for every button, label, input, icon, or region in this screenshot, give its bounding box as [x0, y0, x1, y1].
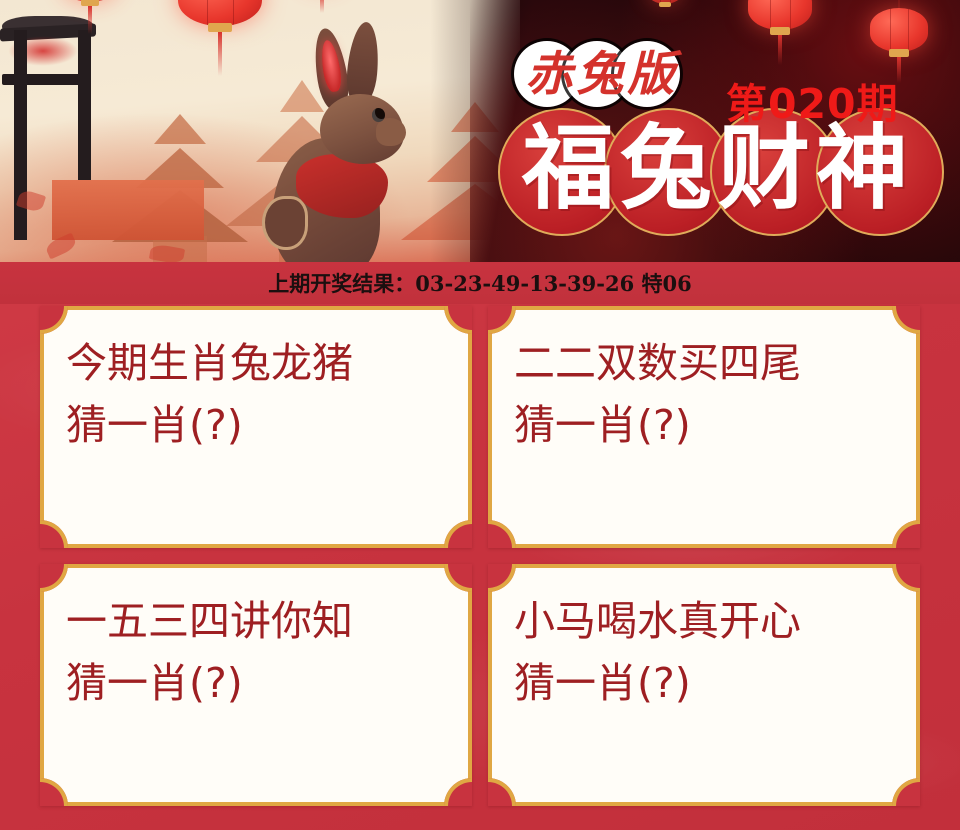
corner-notch-top-right	[892, 564, 920, 592]
previous-draw-result-bar: 上期开奖结果：03-23-49-13-39-26 特06	[0, 262, 960, 304]
riddle-line-2: 猜一肖(?)	[66, 394, 450, 456]
corner-notch-top-left	[488, 564, 516, 592]
lantern-cap	[770, 27, 790, 35]
corner-notch-bottom-right	[444, 778, 472, 806]
main-title: 福兔财神	[498, 98, 938, 238]
title-logo: 赤兔版 第020期 福兔财神	[498, 38, 950, 253]
rabbit-eye	[372, 108, 385, 122]
lantern-string	[898, 0, 900, 8]
poster-page: 赤兔版 第020期 福兔财神 上期开奖结果：03-23-49-13-39-26 …	[0, 0, 960, 830]
rabbit-ear-right	[344, 21, 381, 105]
riddle-card[interactable]: 二二双数买四尾 猜一肖(?)	[488, 306, 920, 548]
lantern-cap	[659, 2, 671, 7]
corner-notch-bottom-left	[488, 778, 516, 806]
pagoda-tier	[154, 114, 206, 144]
corner-notch-top-left	[488, 306, 516, 334]
torii-post-right	[78, 30, 91, 180]
lantern-cap	[208, 23, 232, 32]
riddle-line-1: 一五三四讲你知	[66, 590, 450, 652]
corner-notch-bottom-left	[488, 520, 516, 548]
riddle-card[interactable]: 一五三四讲你知 猜一肖(?)	[40, 564, 472, 806]
corner-notch-bottom-right	[444, 520, 472, 548]
lantern-icon	[648, 0, 682, 4]
corner-notch-top-right	[444, 564, 472, 592]
corner-notch-bottom-right	[892, 778, 920, 806]
lantern-tassel	[88, 6, 92, 34]
rabbit-muzzle	[376, 118, 406, 146]
corner-notch-bottom-right	[892, 520, 920, 548]
riddle-line-1: 今期生肖兔龙猪	[66, 332, 450, 394]
riddle-line-2: 猜一肖(?)	[66, 652, 450, 714]
riddle-card[interactable]: 今期生肖兔龙猪 猜一肖(?)	[40, 306, 472, 548]
banner-plaque	[52, 180, 204, 240]
corner-notch-top-left	[40, 306, 68, 334]
lantern-icon	[748, 0, 812, 30]
rabbit-illustration	[250, 20, 420, 262]
riddle-line-2: 猜一肖(?)	[514, 394, 898, 456]
riddle-line-2: 猜一肖(?)	[514, 652, 898, 714]
riddle-line-1: 小马喝水真开心	[514, 590, 898, 652]
lantern-body	[748, 0, 812, 30]
corner-notch-top-left	[40, 564, 68, 592]
lantern-tassel	[320, 0, 324, 13]
corner-notch-bottom-left	[40, 520, 68, 548]
previous-draw-result-text: 上期开奖结果：03-23-49-13-39-26 特06	[268, 268, 691, 298]
corner-notch-top-right	[892, 306, 920, 334]
lantern-tassel	[218, 32, 222, 76]
corner-notch-bottom-left	[40, 778, 68, 806]
lantern-icon	[62, 0, 118, 2]
banner-illustration: 赤兔版 第020期 福兔财神	[0, 0, 960, 262]
corner-notch-top-right	[444, 306, 472, 334]
riddle-line-1: 二二双数买四尾	[514, 332, 898, 394]
rabbit-tail	[262, 196, 308, 250]
riddle-card-grid: 今期生肖兔龙猪 猜一肖(?) 二二双数买四尾 猜一肖(?) 一五三四讲你知 猜一…	[40, 306, 920, 806]
riddle-card[interactable]: 小马喝水真开心 猜一肖(?)	[488, 564, 920, 806]
rabbit-ear-inner	[319, 39, 344, 93]
